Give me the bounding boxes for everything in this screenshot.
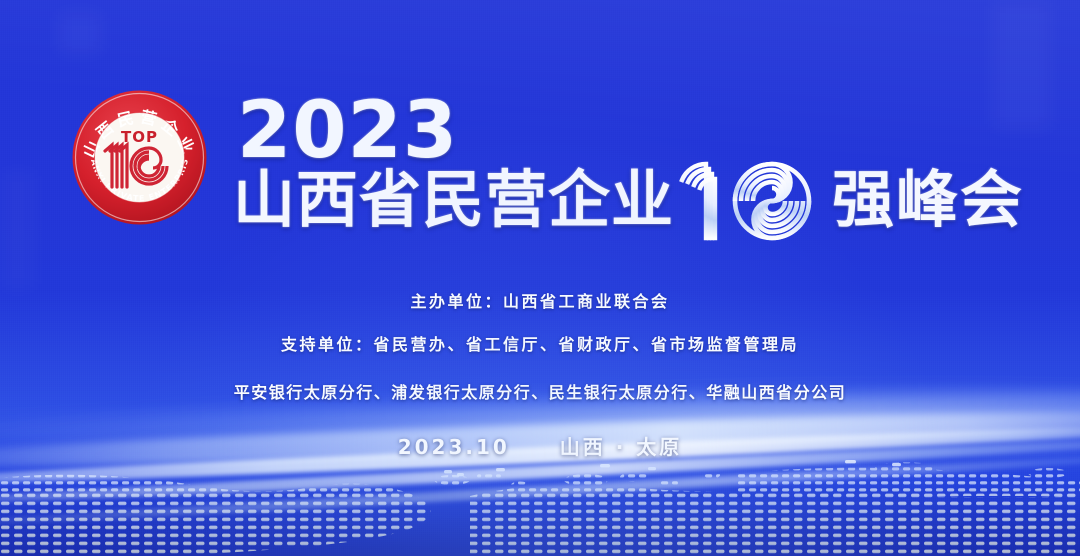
background-light-patch <box>58 12 102 54</box>
supporters-line: 支持单位：省民营办、省工信厅、省财政厅、省市场监督管理局 <box>0 331 1080 355</box>
location-separator-dot: · <box>616 435 627 459</box>
shanxi-top100-logo: 山西民营企业 SHANXI PRIVATE ENTERPRISES TOP <box>71 89 208 226</box>
page-title-year: 2023 <box>237 92 458 170</box>
organizer-line: 主办单位：山西省工商业联合会 <box>0 288 1080 312</box>
event-province: 山西 <box>560 435 606 459</box>
event-city: 太原 <box>636 435 682 459</box>
background-light-patch <box>992 0 1052 130</box>
top100-mark-icon <box>676 158 828 242</box>
event-banner-stage: 山西民营企业 SHANXI PRIVATE ENTERPRISES TOP <box>0 0 1080 556</box>
spacer <box>520 435 550 459</box>
event-date: 2023.10 <box>398 435 510 459</box>
date-location-line: 2023.10 山西 · 太原 <box>0 431 1080 460</box>
page-title: 山西省民营企业 <box>233 161 1024 239</box>
banks-line: 平安银行太原分行、浦发银行太原分行、民生银行太原分行、华融山西省分公司 <box>0 379 1080 403</box>
page-title-main: 山西省民营企业 <box>233 168 674 232</box>
page-title-suffix: 强峰会 <box>832 168 1024 232</box>
credits-block: 主办单位：山西省工商业联合会 支持单位：省民营办、省工信厅、省财政厅、省市场监督… <box>0 288 1080 460</box>
background-light-patch <box>0 170 36 290</box>
dotted-world-map <box>0 452 1080 556</box>
